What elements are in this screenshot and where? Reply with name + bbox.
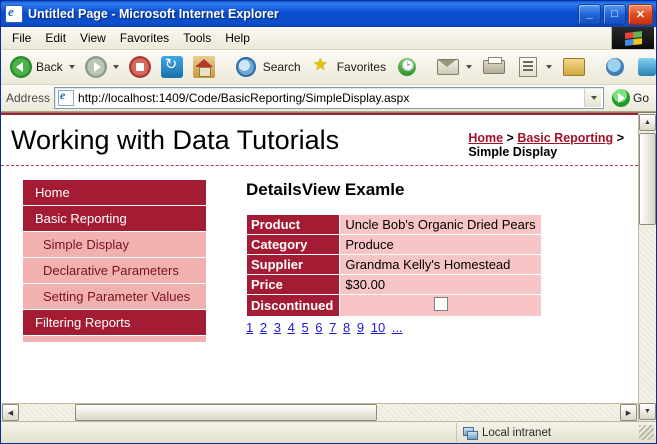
table-row: Category Produce [247,235,542,255]
breadcrumb: Home > Basic Reporting > Simple Display [468,125,624,159]
breadcrumb-current: Simple Display [468,145,624,159]
mail-dropdown-icon[interactable] [466,65,472,69]
go-button[interactable]: Go [608,88,653,108]
ie-browser-window: Untitled Page - Microsoft Internet Explo… [0,0,657,444]
back-label: Back [36,60,63,74]
security-zone: Local intranet [457,423,639,442]
standard-toolbar: Back Search Favorites [1,50,656,85]
scroll-up-button[interactable]: ▲ [639,114,656,131]
msn-button[interactable] [600,54,630,80]
maximize-button[interactable]: □ [603,4,626,25]
go-arrow-icon [612,89,630,107]
breadcrumb-sep-2: > [617,131,624,145]
home-button[interactable] [189,54,219,80]
row-value-product: Uncle Bob's Organic Dried Pears [340,215,541,235]
stop-button[interactable] [125,54,155,80]
pager-link-4[interactable]: 4 [288,320,295,335]
hscroll-thumb[interactable] [75,404,377,421]
print-button[interactable] [478,53,510,81]
search-icon [236,57,256,77]
menu-item-view[interactable]: View [73,29,113,47]
vscroll-track[interactable] [639,226,656,402]
sidebar-item-partial[interactable] [23,336,206,343]
menu-item-file[interactable]: File [5,29,38,47]
history-button[interactable] [392,54,422,80]
discontinued-checkbox[interactable] [434,297,448,311]
folder-icon [563,58,585,76]
row-label-price: Price [247,275,340,295]
sidebar-item-filtering-reports[interactable]: Filtering Reports [23,310,206,336]
status-bar: Local intranet [1,421,656,443]
pager-link-5[interactable]: 5 [301,320,308,335]
discuss-button[interactable] [558,53,590,81]
minimize-button[interactable]: _ [578,4,601,25]
mail-icon [437,59,459,75]
menu-item-help[interactable]: Help [218,29,257,47]
page-title: Working with Data Tutorials [11,125,339,156]
row-label-category: Category [247,235,340,255]
menu-bar: File Edit View Favorites Tools Help [1,27,656,50]
row-value-category: Produce [340,235,541,255]
row-value-supplier: Grandma Kelly's Homestead [340,255,541,275]
hscroll-track[interactable] [20,404,619,421]
close-button[interactable]: ✕ [628,4,653,25]
pager-link-7[interactable]: 7 [329,320,336,335]
row-label-product: Product [247,215,340,235]
windows-logo-icon [611,27,654,49]
sidebar-item-basic-reporting[interactable]: Basic Reporting [23,206,206,232]
security-zone-label: Local intranet [482,427,551,439]
page-viewport: Working with Data Tutorials Home > Basic… [1,112,656,421]
address-url-text: http://localhost:1409/Code/BasicReportin… [78,91,580,105]
pager-link-3[interactable]: 3 [274,320,281,335]
address-dropdown-icon[interactable] [584,89,601,107]
favorites-button[interactable]: Favorites [307,54,390,80]
row-label-supplier: Supplier [247,255,340,275]
horizontal-scrollbar[interactable]: ◀ ▶ [1,403,638,421]
search-button[interactable]: Search [229,52,305,82]
stop-icon [129,56,151,78]
refresh-button[interactable] [157,54,187,80]
vertical-scrollbar[interactable]: ▲ ▼ [638,113,656,421]
back-button[interactable]: Back [6,54,79,80]
window-title: Untitled Page - Microsoft Internet Explo… [28,7,578,21]
pager-link-9[interactable]: 9 [357,320,364,335]
forward-button[interactable] [81,54,123,80]
content-title: DetailsView Examle [246,180,638,200]
page-icon [58,90,74,106]
back-dropdown-icon[interactable] [69,65,75,69]
breadcrumb-basic-reporting[interactable]: Basic Reporting [517,131,613,145]
menu-item-edit[interactable]: Edit [38,29,73,47]
pager-link-10[interactable]: 10 [371,320,385,335]
scroll-down-button[interactable]: ▼ [639,403,656,420]
table-row: Price $30.00 [247,275,542,295]
back-arrow-icon [10,56,32,78]
table-row: Product Uncle Bob's Organic Dried Pears [247,215,542,235]
forward-dropdown-icon[interactable] [113,65,119,69]
refresh-icon [161,56,183,78]
title-bar: Untitled Page - Microsoft Internet Explo… [1,1,656,27]
edit-button[interactable] [512,53,556,81]
printer-icon [483,60,505,74]
favorites-label: Favorites [337,60,386,74]
globe-icon [606,58,624,76]
pager-link-6[interactable]: 6 [315,320,322,335]
page-header: Working with Data Tutorials Home > Basic… [1,115,638,166]
scroll-left-button[interactable]: ◀ [2,404,19,421]
main-content: DetailsView Examle Product Uncle Bob's O… [228,166,638,343]
edit-page-icon [519,57,537,77]
page-body: Home Basic Reporting Simple Display Decl… [1,166,638,343]
table-row: Supplier Grandma Kelly's Homestead [247,255,542,275]
menu-item-favorites[interactable]: Favorites [113,29,176,47]
pager-link-more[interactable]: ... [392,320,403,335]
star-icon [311,56,333,78]
mail-button[interactable] [432,53,476,81]
pager-link-1[interactable]: 1 [246,320,253,335]
breadcrumb-home[interactable]: Home [468,131,503,145]
pager-link-8[interactable]: 8 [343,320,350,335]
messenger-button[interactable] [632,54,657,80]
breadcrumb-sep-1: > [507,131,514,145]
forward-arrow-icon [85,56,107,78]
history-clock-icon [398,58,416,76]
sidebar-item-simple-display[interactable]: Simple Display [23,232,206,258]
resize-grip[interactable] [639,425,654,440]
go-label: Go [633,91,649,105]
left-navigation: Home Basic Reporting Simple Display Decl… [1,166,228,343]
vscroll-thumb[interactable] [639,133,656,225]
edit-dropdown-icon[interactable] [546,65,552,69]
ie-page-icon [5,5,23,23]
messenger-icon [638,58,656,76]
address-input[interactable]: http://localhost:1409/Code/BasicReportin… [54,87,604,109]
row-value-discontinued [340,295,541,317]
search-label: Search [263,60,301,74]
home-icon [193,56,215,78]
menu-item-tools[interactable]: Tools [176,29,218,47]
sidebar-item-declarative-parameters[interactable]: Declarative Parameters [23,258,206,284]
pager-link-2[interactable]: 2 [260,320,267,335]
window-controls: _ □ ✕ [578,4,653,25]
network-icon [463,427,477,439]
row-label-discontinued: Discontinued [247,295,340,317]
address-bar: Address http://localhost:1409/Code/Basic… [1,85,656,112]
status-message [1,423,457,442]
sidebar-item-home[interactable]: Home [23,180,206,206]
pager: 1 2 3 4 5 6 7 8 9 10 ... [246,317,638,335]
scroll-right-button[interactable]: ▶ [620,404,637,421]
sidebar-item-setting-parameter-values[interactable]: Setting Parameter Values [23,284,206,310]
table-row: Discontinued [247,295,542,317]
address-label: Address [6,91,50,105]
web-page: Working with Data Tutorials Home > Basic… [1,113,638,403]
details-view-table: Product Uncle Bob's Organic Dried Pears … [246,214,542,317]
row-value-price: $30.00 [340,275,541,295]
